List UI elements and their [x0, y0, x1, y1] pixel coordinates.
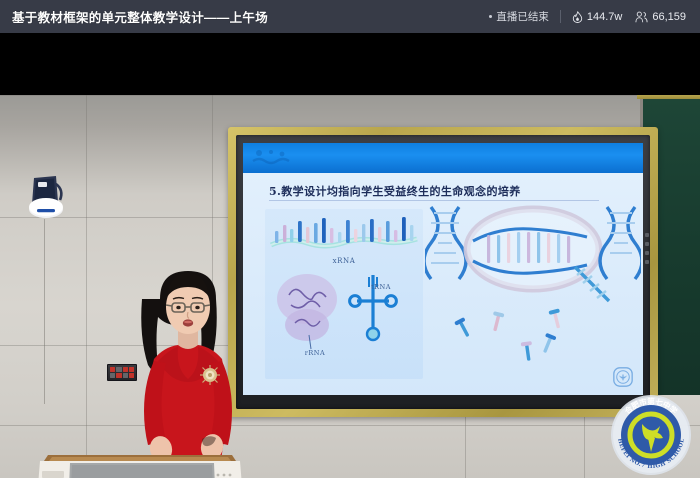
- wall-seam: [0, 425, 700, 426]
- status-dot-icon: [489, 15, 492, 18]
- camera-cable: [44, 219, 45, 404]
- header-meta-group: 直播已结束 144.7w: [489, 9, 686, 24]
- slide-title-underline: [269, 200, 599, 201]
- live-status-label: 直播已结束: [496, 9, 549, 24]
- display-button[interactable]: [645, 260, 649, 264]
- control-panel-led: [110, 367, 115, 372]
- heat-value: 144.7w: [587, 11, 622, 23]
- display-button[interactable]: [645, 242, 649, 246]
- control-panel-led: [116, 373, 121, 378]
- letterbox-band: [0, 33, 700, 95]
- slide-title: 5.教学设计均指向学生受益终生的生命观念的培养: [269, 183, 629, 199]
- display-side-buttons[interactable]: [645, 233, 650, 269]
- mrna-strand-icon: [269, 215, 419, 255]
- ribosome-icon: [271, 269, 345, 351]
- viewers-stat: 66,159: [635, 11, 686, 23]
- stream-player: 基于教材框架的单元整体教学设计——上午场 直播已结束 144.7w: [0, 0, 700, 478]
- slide-banner: [243, 143, 643, 173]
- trna-label: tRNA: [371, 283, 391, 291]
- slide-watermark-logo-icon: [613, 367, 633, 387]
- school-badge: 合肥市第七中学 HEFEI NO.7 HIGH SCHOOL: [610, 394, 692, 476]
- wall-seam: [0, 95, 700, 96]
- page-title: 基于教材框架的单元整体教学设计——上午场: [12, 7, 268, 26]
- live-status: 直播已结束: [489, 9, 549, 24]
- header-divider: [560, 10, 561, 23]
- viewers-value: 66,159: [652, 11, 686, 23]
- mrna-label: xRNA: [269, 257, 419, 265]
- heat-stat: 144.7w: [572, 11, 622, 23]
- flame-icon: [572, 11, 583, 23]
- video-surface[interactable]: SMART 5.教学设计均指向学生受益终生的生命观念的培养: [0, 33, 700, 478]
- people-icon: [635, 11, 648, 23]
- wall-seam: [86, 95, 87, 478]
- control-panel-led: [116, 367, 121, 372]
- display-button[interactable]: [645, 251, 649, 255]
- rrna-label: rRNA: [265, 349, 365, 357]
- dna-replication-icon: [425, 205, 641, 395]
- banner-decoration-icon: [251, 148, 297, 168]
- wall-mounted-camera-icon: [26, 176, 66, 220]
- stream-header-bar: 基于教材框架的单元整体教学设计——上午场 直播已结束 144.7w: [0, 0, 700, 33]
- control-panel-led: [110, 373, 115, 378]
- display-button[interactable]: [645, 233, 649, 237]
- slide: 5.教学设计均指向学生受益终生的生命观念的培养: [243, 143, 643, 395]
- lectern-icon: [18, 445, 253, 478]
- presentation-screen[interactable]: 5.教学设计均指向学生受益终生的生命观念的培养: [243, 143, 643, 395]
